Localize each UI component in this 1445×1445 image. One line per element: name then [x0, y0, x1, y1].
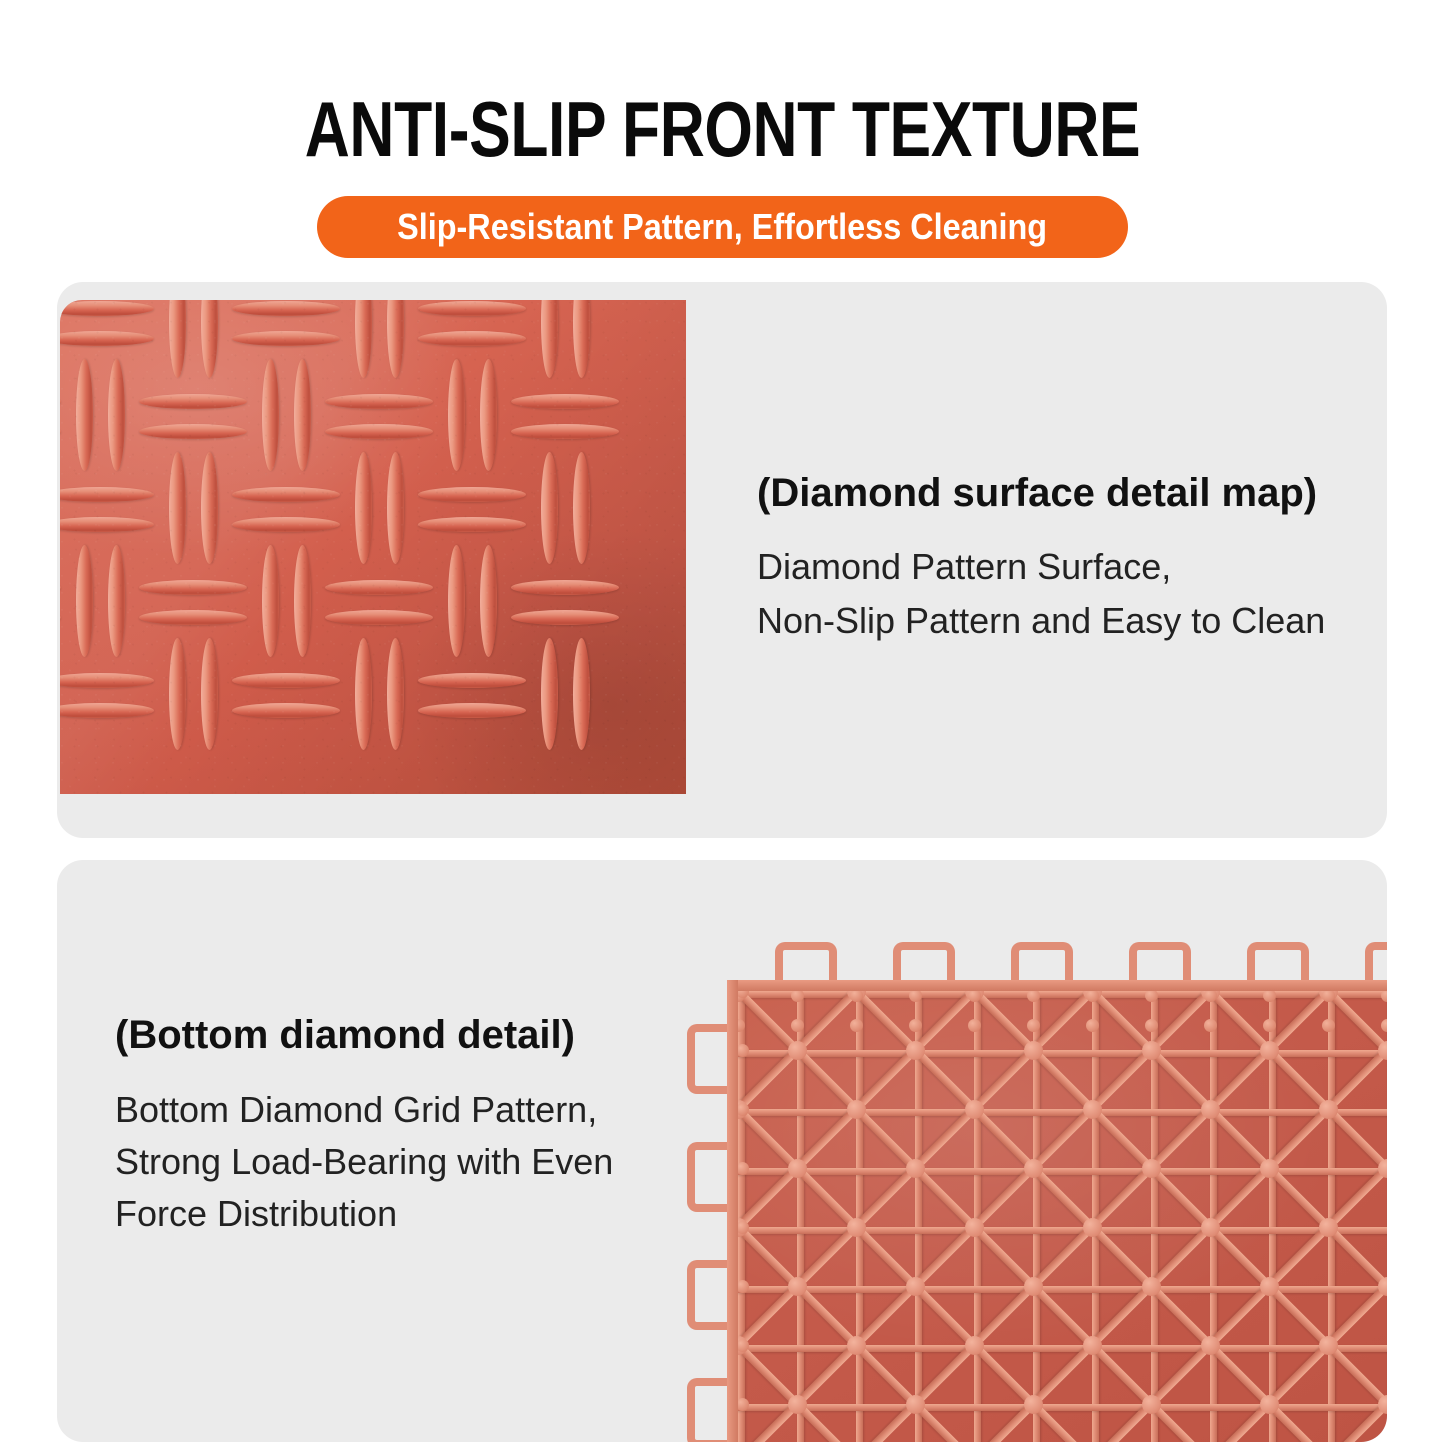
- grid-rib-diagonal: [853, 1342, 977, 1442]
- grid-rib-diagonal: [971, 1342, 1095, 1442]
- panel-bottom-grid: (Bottom diamond detail) Bottom Diamond G…: [57, 860, 1387, 1442]
- page-title: ANTI-SLIP FRONT TEXTURE: [145, 82, 1301, 176]
- grid-rib-diagonal: [1325, 988, 1387, 1112]
- grid-rib-diagonal: [853, 1106, 977, 1230]
- diamond-rib-horizontal: [511, 424, 619, 439]
- diamond-plate-surface-photo: [60, 300, 686, 794]
- diamond-rib-vertical: [448, 359, 465, 471]
- grid-node: [1142, 1159, 1161, 1178]
- grid-node: [1201, 1336, 1220, 1355]
- grid-rib-diagonal: [1325, 980, 1387, 994]
- grid-rib-vertical: [915, 980, 922, 1442]
- grid-node: [1260, 1395, 1279, 1414]
- grid-rib-horizontal: [727, 1109, 1387, 1116]
- grid-node: [1319, 1218, 1338, 1237]
- grid-node: [965, 1218, 984, 1237]
- diamond-rib-horizontal: [325, 394, 433, 409]
- grid-node: [906, 1159, 925, 1178]
- diamond-rib-vertical: [541, 452, 558, 564]
- diamond-rib-horizontal: [418, 331, 526, 346]
- grid-rib-vertical: [856, 980, 863, 1442]
- diamond-rib-vertical: [480, 359, 497, 471]
- grid-rib-diagonal: [727, 988, 741, 1112]
- grid-rib-diagonal: [1325, 1342, 1387, 1442]
- grid-nub: [1204, 989, 1217, 1002]
- diamond-rib-horizontal: [325, 424, 433, 439]
- diamond-surface-heading: (Diamond surface detail map): [757, 468, 1377, 518]
- diamond-surface-body-line-1: Diamond Pattern Surface,: [757, 540, 1377, 594]
- grid-nub: [1263, 989, 1276, 1002]
- grid-rib-diagonal: [735, 1342, 859, 1442]
- grid-rib-horizontal: [727, 1404, 1387, 1411]
- grid-nub: [732, 1019, 745, 1032]
- grid-rib-diagonal: [853, 988, 977, 1112]
- grid-rib-diagonal: [1325, 1224, 1387, 1348]
- grid-rib-diagonal: [1207, 988, 1331, 1112]
- grid-rib-diagonal: [727, 1106, 741, 1230]
- grid-rib-diagonal: [727, 1342, 741, 1442]
- grid-rib-diagonal: [1089, 1106, 1213, 1230]
- grid-rib-diagonal: [1207, 980, 1331, 994]
- grid-rib-horizontal: [727, 1227, 1387, 1234]
- diamond-rib-horizontal: [418, 301, 526, 316]
- grid-rib-diagonal: [735, 1106, 859, 1230]
- grid-node: [1378, 1041, 1388, 1060]
- grid-node: [1201, 1218, 1220, 1237]
- grid-rib-diagonal: [1207, 1342, 1331, 1442]
- grid-node: [847, 1336, 866, 1355]
- diamond-rib-vertical: [355, 300, 372, 378]
- diamond-rib-horizontal: [139, 394, 247, 409]
- grid-nub: [1145, 989, 1158, 1002]
- grid-rib-diagonal: [971, 1224, 1095, 1348]
- grid-node: [1378, 1159, 1388, 1178]
- bottom-grid-text-block: (Bottom diamond detail) Bottom Diamond G…: [115, 1010, 715, 1240]
- diamond-rib-horizontal: [60, 394, 61, 409]
- diamond-rib-horizontal: [511, 610, 619, 625]
- grid-rib-diagonal: [1207, 1224, 1331, 1348]
- grid-nub: [1145, 1019, 1158, 1032]
- diamond-rib-horizontal: [139, 580, 247, 595]
- diamond-rib-vertical: [573, 452, 590, 564]
- grid-rib-diagonal: [1207, 980, 1331, 994]
- grid-rib-diagonal: [1089, 980, 1213, 994]
- grid-nub: [1086, 989, 1099, 1002]
- diamond-rib-horizontal: [511, 580, 619, 595]
- grid-rib-vertical: [738, 980, 745, 1442]
- grid-node: [1024, 1041, 1043, 1060]
- grid-rib-diagonal: [1089, 1106, 1213, 1230]
- grid-nub: [732, 989, 745, 1002]
- diamond-rib-vertical: [355, 452, 372, 564]
- bottom-grid-heading: (Bottom diamond detail): [115, 1010, 715, 1060]
- grid-node: [1319, 1336, 1338, 1355]
- grid-rib-diagonal: [1325, 988, 1387, 1112]
- grid-rib-diagonal: [727, 1224, 741, 1348]
- grid-node: [1083, 1100, 1102, 1119]
- grid-rib-horizontal: [727, 1286, 1387, 1293]
- grid-rib-diagonal: [735, 980, 859, 994]
- diamond-rib-horizontal: [232, 331, 340, 346]
- grid-rib-diagonal: [735, 980, 859, 994]
- grid-node: [1024, 1159, 1043, 1178]
- grid-rib-diagonal: [1325, 980, 1387, 994]
- grid-rib-diagonal: [853, 980, 977, 994]
- diamond-surface-body-line-2: Non-Slip Pattern and Easy to Clean: [757, 594, 1377, 648]
- grid-nub: [736, 1221, 749, 1234]
- grid-node: [1024, 1277, 1043, 1296]
- grid-node: [1201, 1100, 1220, 1119]
- diamond-rib-vertical: [262, 545, 279, 657]
- grid-rib-diagonal: [971, 988, 1095, 1112]
- grid-nub: [1027, 989, 1040, 1002]
- grid-nub: [1263, 1019, 1276, 1032]
- grid-rib-diagonal: [1325, 1342, 1387, 1442]
- diamond-rib-horizontal: [60, 487, 154, 502]
- grid-nub: [736, 1280, 749, 1293]
- diamond-rib-vertical: [294, 359, 311, 471]
- grid-rib-diagonal: [971, 1224, 1095, 1348]
- grid-rib-diagonal: [1089, 988, 1213, 1112]
- diamond-rib-horizontal: [325, 610, 433, 625]
- diamond-rib-vertical: [76, 545, 93, 657]
- diamond-rib-horizontal: [60, 580, 61, 595]
- grid-rib-diagonal: [1207, 1224, 1331, 1348]
- grid-plate-body: [727, 980, 1387, 1442]
- grid-nub: [909, 1019, 922, 1032]
- diamond-rib-horizontal: [418, 517, 526, 532]
- grid-rib-vertical: [1033, 980, 1040, 1442]
- grid-node: [788, 1395, 807, 1414]
- grid-rib-diagonal: [727, 980, 741, 994]
- grid-rib-vertical: [974, 980, 981, 1442]
- grid-rib-diagonal: [853, 988, 977, 1112]
- diamond-rib-vertical: [573, 638, 590, 750]
- grid-rib-diagonal: [1089, 988, 1213, 1112]
- grid-node: [965, 1336, 984, 1355]
- grid-nub: [1204, 1019, 1217, 1032]
- diamond-rib-vertical: [108, 545, 125, 657]
- grid-rib-diagonal: [735, 1224, 859, 1348]
- tile-surface-body: [60, 300, 686, 794]
- grid-nub: [850, 1019, 863, 1032]
- grid-nub: [1381, 1019, 1388, 1032]
- grid-nub: [736, 1398, 749, 1411]
- diamond-rib-horizontal: [418, 487, 526, 502]
- bottom-grid-body-line-1: Bottom Diamond Grid Pattern,: [115, 1084, 715, 1136]
- grid-node: [906, 1395, 925, 1414]
- grid-node: [1319, 982, 1338, 1001]
- diamond-rib-horizontal: [418, 673, 526, 688]
- diamond-rib-horizontal: [232, 301, 340, 316]
- grid-nub: [1322, 1019, 1335, 1032]
- grid-rib-diagonal: [971, 1342, 1095, 1442]
- diamond-rib-vertical: [387, 300, 404, 378]
- subtitle-text: Slip-Resistant Pattern, Effortless Clean…: [398, 207, 1048, 247]
- diamond-rib-vertical: [76, 359, 93, 471]
- grid-nub: [791, 1019, 804, 1032]
- grid-rib-diagonal: [971, 980, 1095, 994]
- diamond-rib-vertical: [169, 300, 186, 378]
- diamond-rib-vertical: [541, 638, 558, 750]
- grid-node: [906, 1277, 925, 1296]
- grid-rib-diagonal: [853, 1224, 977, 1348]
- diamond-rib-vertical: [355, 638, 372, 750]
- grid-rib-diagonal: [1089, 1224, 1213, 1348]
- diamond-rib-vertical: [387, 452, 404, 564]
- diamond-rib-vertical: [108, 359, 125, 471]
- diamond-rib-vertical: [387, 638, 404, 750]
- grid-nub: [736, 985, 749, 998]
- grid-node: [729, 1100, 748, 1119]
- grid-rib-vertical: [1092, 980, 1099, 1442]
- grid-nub: [968, 1019, 981, 1032]
- bottom-grid-body: Bottom Diamond Grid Pattern, Strong Load…: [115, 1084, 715, 1240]
- diamond-rib-horizontal: [60, 610, 61, 625]
- grid-node: [1024, 1395, 1043, 1414]
- grid-rib-diagonal: [1207, 1106, 1331, 1230]
- grid-rib-diagonal: [1207, 988, 1331, 1112]
- diamond-rib-vertical: [169, 638, 186, 750]
- grid-rib-horizontal: [727, 1345, 1387, 1352]
- grid-rib-diagonal: [971, 988, 1095, 1112]
- grid-node: [729, 1218, 748, 1237]
- diamond-rib-vertical: [294, 545, 311, 657]
- grid-node: [965, 982, 984, 1001]
- diamond-rib-horizontal: [60, 301, 154, 316]
- grid-rib-diagonal: [1089, 1342, 1213, 1442]
- diamond-surface-body: Diamond Pattern Surface, Non-Slip Patter…: [757, 540, 1377, 648]
- diamond-rib-horizontal: [139, 424, 247, 439]
- grid-node: [847, 1218, 866, 1237]
- diamond-rib-vertical: [169, 452, 186, 564]
- grid-rib-horizontal: [727, 991, 1387, 998]
- grid-node: [1083, 1336, 1102, 1355]
- tile-underside-grid-photo: [679, 932, 1387, 1442]
- diamond-rib-vertical: [201, 638, 218, 750]
- grid-rib-vertical: [1328, 980, 1335, 1442]
- grid-rib-diagonal: [727, 980, 741, 994]
- grid-rib-vertical: [1151, 980, 1158, 1442]
- grid-node: [729, 1336, 748, 1355]
- diamond-rib-vertical: [262, 359, 279, 471]
- grid-node: [1260, 1277, 1279, 1296]
- bottom-grid-body-line-2: Strong Load-Bearing with Even: [115, 1136, 715, 1188]
- diamond-rib-horizontal: [139, 610, 247, 625]
- grid-rib-horizontal: [727, 1168, 1387, 1175]
- grid-rib-diagonal: [1325, 1106, 1387, 1230]
- grid-nub: [1322, 989, 1335, 1002]
- grid-node: [1083, 1218, 1102, 1237]
- diamond-rib-horizontal: [60, 703, 154, 718]
- grid-rib-diagonal: [1325, 1224, 1387, 1348]
- bottom-grid-body-line-3: Force Distribution: [115, 1188, 715, 1240]
- diamond-rib-vertical: [480, 545, 497, 657]
- grid-node: [1378, 1395, 1388, 1414]
- diamond-surface-text-block: (Diamond surface detail map) Diamond Pat…: [757, 468, 1377, 648]
- grid-nub: [736, 1103, 749, 1116]
- diamond-rib-horizontal: [60, 673, 154, 688]
- grid-rib-diagonal: [735, 1342, 859, 1442]
- grid-node: [788, 1159, 807, 1178]
- grid-rib-diagonal: [1089, 1342, 1213, 1442]
- grid-rib-diagonal: [1089, 1224, 1213, 1348]
- grid-rib-diagonal: [971, 980, 1095, 994]
- diamond-rib-horizontal: [232, 673, 340, 688]
- grid-rib-diagonal: [727, 1342, 741, 1442]
- grid-rib-vertical: [1210, 980, 1217, 1442]
- grid-node: [1142, 1395, 1161, 1414]
- grid-node: [788, 1277, 807, 1296]
- grid-nub: [1381, 989, 1388, 1002]
- grid-rib-diagonal: [853, 1342, 977, 1442]
- grid-rib-diagonal: [735, 1224, 859, 1348]
- panel-diamond-surface: (Diamond surface detail map) Diamond Pat…: [57, 282, 1387, 838]
- infographic-page: ANTI-SLIP FRONT TEXTURE Slip-Resistant P…: [0, 0, 1445, 1445]
- grid-rib-diagonal: [735, 988, 859, 1112]
- subtitle-banner-wrap: Slip-Resistant Pattern, Effortless Clean…: [0, 196, 1445, 258]
- grid-rib-diagonal: [853, 980, 977, 994]
- grid-nub: [736, 1044, 749, 1057]
- grid-rib-diagonal: [971, 1106, 1095, 1230]
- grid-rib-horizontal: [727, 1050, 1387, 1057]
- grid-rib-diagonal: [727, 988, 741, 1112]
- grid-rib-diagonal: [1089, 980, 1213, 994]
- grid-nub: [909, 989, 922, 1002]
- grid-node: [847, 982, 866, 1001]
- diamond-rib-vertical: [541, 300, 558, 378]
- grid-rib-diagonal: [727, 1224, 741, 1348]
- diamond-rib-horizontal: [60, 331, 154, 346]
- grid-node: [729, 982, 748, 1001]
- grid-rib-diagonal: [971, 1106, 1095, 1230]
- grid-node: [1142, 1041, 1161, 1060]
- grid-node: [1201, 982, 1220, 1001]
- grid-node: [965, 1100, 984, 1119]
- grid-rib-diagonal: [853, 1224, 977, 1348]
- diamond-rib-horizontal: [232, 487, 340, 502]
- grid-rib-vertical: [797, 980, 804, 1442]
- grid-node: [1260, 1159, 1279, 1178]
- grid-rib-diagonal: [1325, 1106, 1387, 1230]
- diamond-rib-horizontal: [232, 703, 340, 718]
- grid-node: [1319, 1100, 1338, 1119]
- diamond-rib-vertical: [201, 452, 218, 564]
- grid-rib-diagonal: [727, 1106, 741, 1230]
- diamond-rib-horizontal: [418, 703, 526, 718]
- diamond-rib-horizontal: [325, 580, 433, 595]
- grid-nub: [736, 1162, 749, 1175]
- diamond-rib-horizontal: [232, 517, 340, 532]
- grid-nub: [968, 989, 981, 1002]
- grid-rib-diagonal: [1207, 1342, 1331, 1442]
- grid-nub: [850, 989, 863, 1002]
- diamond-rib-vertical: [201, 300, 218, 378]
- grid-node: [906, 1041, 925, 1060]
- grid-rib-vertical: [1269, 980, 1276, 1442]
- grid-node: [1083, 982, 1102, 1001]
- subtitle-banner: Slip-Resistant Pattern, Effortless Clean…: [317, 196, 1127, 258]
- grid-node: [1260, 1041, 1279, 1060]
- grid-node: [1142, 1277, 1161, 1296]
- diamond-rib-vertical: [448, 545, 465, 657]
- grid-nub: [736, 1339, 749, 1352]
- diamond-rib-horizontal: [511, 394, 619, 409]
- grid-nub: [791, 989, 804, 1002]
- tile-surface-shading: [60, 300, 686, 794]
- grid-node: [847, 1100, 866, 1119]
- diamond-rib-horizontal: [60, 424, 61, 439]
- grid-rib-diagonal: [735, 1106, 859, 1230]
- diamond-rib-vertical: [573, 300, 590, 378]
- grid-node: [788, 1041, 807, 1060]
- grid-nub: [1027, 1019, 1040, 1032]
- grid-node: [1378, 1277, 1388, 1296]
- grid-rib-diagonal: [853, 1106, 977, 1230]
- grid-nub: [1086, 1019, 1099, 1032]
- grid-rib-diagonal: [1207, 1106, 1331, 1230]
- grid-rib-diagonal: [735, 988, 859, 1112]
- diamond-rib-horizontal: [60, 517, 154, 532]
